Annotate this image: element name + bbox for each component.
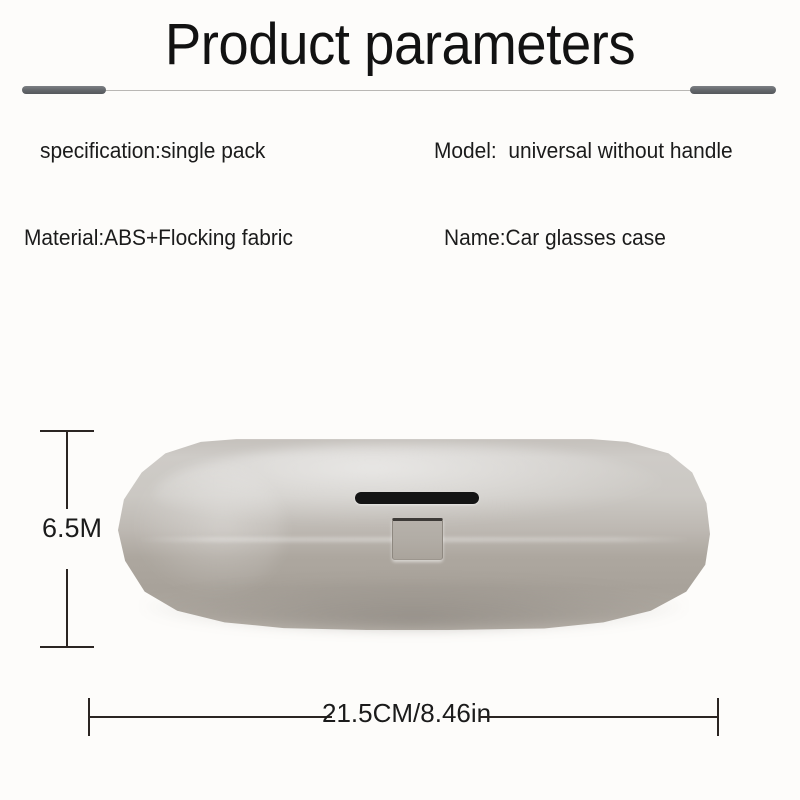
page-title: Product parameters xyxy=(24,14,776,76)
divider-cap-left xyxy=(22,86,106,94)
height-line-upper xyxy=(66,431,68,509)
product-parameters-page: Product parameters specification:single … xyxy=(0,0,800,800)
height-label: 6.5M xyxy=(34,512,110,544)
case-slot xyxy=(355,492,479,504)
title-divider xyxy=(0,84,800,98)
width-dimension: 21.5CM/8.46in xyxy=(86,696,726,740)
spec-model: Model: universal without handle xyxy=(434,138,733,164)
glasses-case-body xyxy=(118,438,710,630)
product-image xyxy=(118,438,710,630)
width-line-left xyxy=(89,716,332,718)
spec-specification: specification:single pack xyxy=(40,138,265,164)
spec-name: Name:Car glasses case xyxy=(444,225,666,251)
case-clip-tab xyxy=(392,518,443,560)
case-highlight-left xyxy=(130,461,284,599)
case-shadow xyxy=(142,580,687,630)
height-dimension: 6.5M xyxy=(36,428,108,650)
divider-cap-right xyxy=(690,86,776,94)
divider-hairline xyxy=(60,90,740,91)
width-label: 21.5CM/8.46in xyxy=(322,698,486,728)
spec-material: Material:ABS+Flocking fabric xyxy=(24,225,293,251)
height-tick-bottom xyxy=(40,646,94,648)
height-line-lower xyxy=(66,569,68,647)
width-tick-right xyxy=(717,698,719,736)
width-line-right xyxy=(479,716,718,718)
